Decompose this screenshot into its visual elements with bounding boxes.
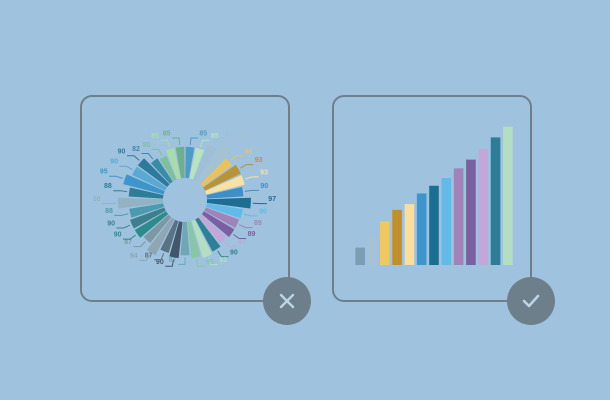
pie-slice-label: 87 (238, 239, 246, 246)
bar-chart-svg (332, 95, 532, 302)
pie-slice-label: 90 (206, 259, 214, 266)
reject-button[interactable] (263, 277, 311, 325)
pie-leader-line (127, 156, 139, 161)
accept-button[interactable] (507, 277, 555, 325)
pie-slice-label: 93 (260, 169, 268, 176)
bar (355, 248, 365, 265)
pie-slice-label: 95 (100, 169, 108, 176)
bar (392, 210, 402, 265)
pie-chart-svg: 8585929990939390979089898790929087908794… (80, 95, 290, 302)
pie-slice-label: 85 (151, 133, 159, 140)
pie-leader-line (233, 234, 246, 238)
pie-slice-label: 98 (93, 196, 101, 203)
pie-slice-label: 97 (268, 196, 276, 203)
pie-slice-label: 90 (260, 183, 268, 190)
bar (368, 236, 378, 265)
bar (380, 222, 390, 266)
pie-leader-line (245, 177, 259, 179)
pie-leader-line (178, 257, 185, 264)
pie-slice-label: 90 (259, 208, 267, 215)
pie-leader-line (239, 225, 252, 228)
pie-slice-label: 94 (130, 253, 138, 260)
pie-slice-label: 85 (163, 131, 171, 138)
pie-leader-line (245, 190, 259, 191)
pie-slice-label: 90 (245, 148, 253, 155)
pie-leader-line (109, 176, 123, 178)
bar (442, 178, 452, 265)
pie-leader-line (114, 214, 128, 216)
pie-leader-line (113, 191, 127, 192)
pie-center-hole (163, 178, 207, 222)
pie-leader-line (160, 140, 169, 147)
pie-slice-label: 92 (219, 257, 227, 264)
pie-leader-line (218, 251, 229, 257)
pie-slice-label: 85 (199, 131, 207, 138)
pie-slice-label: 89 (254, 220, 262, 227)
pie-leader-line (231, 156, 243, 161)
pie-leader-line (225, 242, 237, 247)
pie-slice-label: 90 (114, 232, 122, 239)
bar (491, 137, 501, 265)
pie-slice-label: 90 (110, 159, 118, 166)
pie-leader-line (120, 166, 133, 170)
pie-slice-label: 99 (241, 132, 249, 139)
pie-slice-label: 82 (132, 146, 140, 153)
pie-slice-label: 89 (248, 231, 256, 238)
pie-leader-line (152, 149, 162, 155)
bar (466, 160, 476, 265)
bar (478, 149, 488, 265)
close-icon (276, 290, 298, 312)
bar (503, 127, 513, 265)
screen-root: 8585929990939390979089898790929087908794… (0, 0, 610, 400)
pie-slice-label: 92 (225, 131, 233, 138)
pie-leader-line (240, 165, 253, 169)
pie-slice-label: 85 (211, 133, 219, 140)
bar (429, 186, 439, 265)
pie-leader-line (134, 242, 146, 247)
pie-leader-line (172, 138, 180, 145)
pie-slice-label: 93 (255, 157, 263, 164)
pie-slice-label: 88 (105, 208, 113, 215)
pie-leader-line (117, 225, 130, 228)
pie-slice-label: 90 (107, 221, 115, 228)
check-icon (519, 289, 543, 313)
pie-slice-label: 90 (230, 249, 238, 256)
pie-slice-label: 88 (104, 183, 112, 190)
pie-slice-label: 87 (124, 239, 132, 246)
bar (454, 168, 464, 265)
bar-chart-figure (332, 95, 532, 302)
pie-leader-line (228, 139, 239, 145)
pie-slice-label: 80 (143, 142, 151, 149)
pie-leader-line (141, 154, 152, 160)
pie-slice-label: 90 (118, 148, 126, 155)
bar (405, 204, 415, 265)
pie-leader-line (244, 214, 258, 216)
bar (417, 193, 427, 265)
pie-leader-line (196, 259, 204, 266)
pie-chart-figure: 8585929990939390979089898790929087908794… (80, 95, 290, 302)
pie-leader-line (190, 138, 198, 145)
